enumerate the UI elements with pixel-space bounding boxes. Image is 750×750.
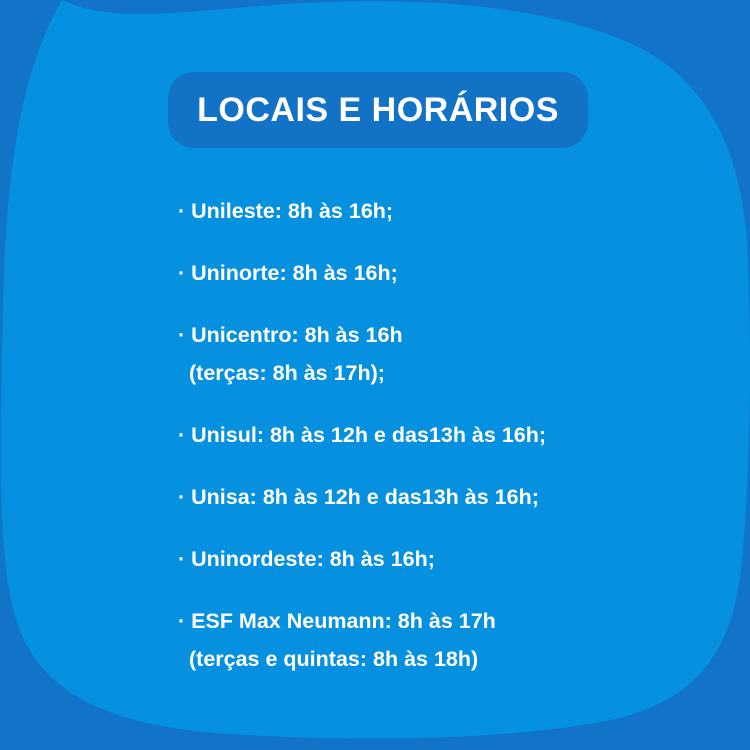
list-item-line: · ESF Max Neumann: 8h às 17h	[178, 602, 718, 640]
list-item-line: · Unileste: 8h às 16h;	[178, 192, 718, 230]
page-title: LOCAIS E HORÁRIOS	[197, 93, 559, 127]
list-item-line: · Uninorte: 8h às 16h;	[178, 254, 718, 292]
list-item-line: · Unisa: 8h às 12h e das13h às 16h;	[178, 478, 718, 516]
list-item-line-continued: (terças e quintas: 8h às 18h)	[178, 640, 718, 678]
list-item: · Unisa: 8h às 12h e das13h às 16h;	[178, 478, 718, 516]
list-item-line: · Unisul: 8h às 12h e das13h às 16h;	[178, 416, 718, 454]
list-item-line: · Unicentro: 8h às 16h	[178, 316, 718, 354]
list-item-line-continued: (terças: 8h às 17h);	[178, 354, 718, 392]
list-item: · Uninordeste: 8h às 16h;	[178, 540, 718, 578]
list-item: · Uninorte: 8h às 16h;	[178, 254, 718, 292]
poster-canvas: LOCAIS E HORÁRIOS · Unileste: 8h às 16h;…	[0, 0, 750, 750]
title-banner: LOCAIS E HORÁRIOS	[168, 72, 588, 148]
list-item: · Unisul: 8h às 12h e das13h às 16h;	[178, 416, 718, 454]
list-item: · Unicentro: 8h às 16h (terças: 8h às 17…	[178, 316, 718, 392]
list-item: · Unileste: 8h às 16h;	[178, 192, 718, 230]
list-item-line: · Uninordeste: 8h às 16h;	[178, 540, 718, 578]
list-item: · ESF Max Neumann: 8h às 17h (terças e q…	[178, 602, 718, 678]
schedule-list: · Unileste: 8h às 16h; · Uninorte: 8h às…	[178, 192, 718, 678]
